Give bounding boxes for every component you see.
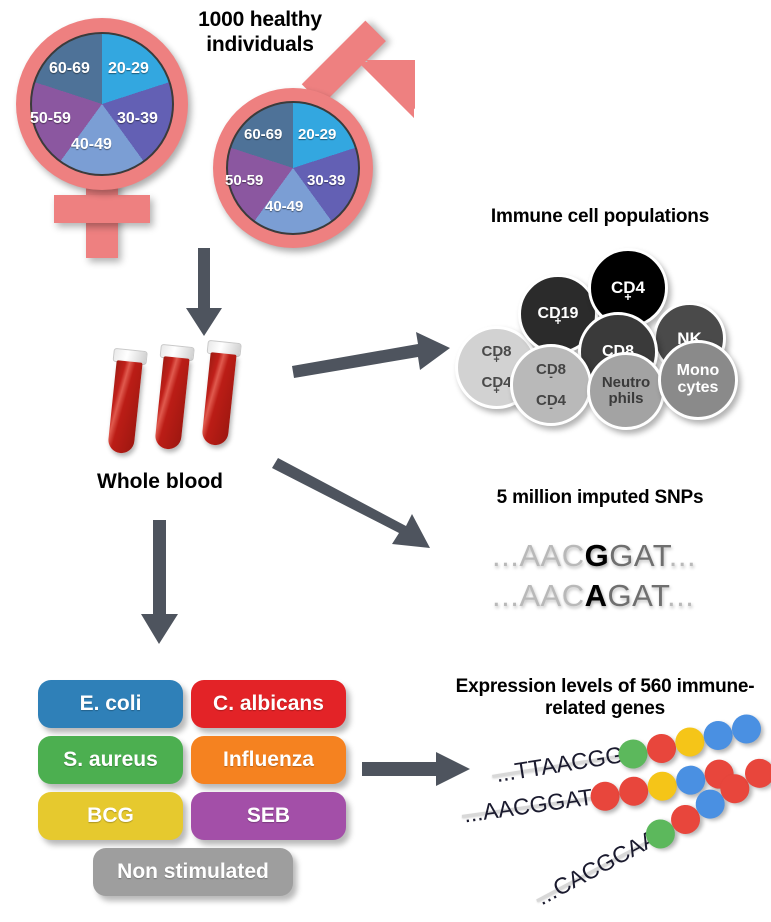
bubble-line-2: phils [602, 391, 650, 407]
strand-sequence: ...CACGCAA [532, 825, 662, 911]
expression-bead [645, 732, 678, 765]
bubble-line-1: Neutro [602, 375, 650, 391]
female-age-label-60-69: 60-69 [49, 60, 90, 78]
male-age-label-40-49: 40-49 [265, 198, 303, 215]
snp-suffix: ... [667, 578, 694, 613]
stimulus-label: E. coli [80, 692, 142, 716]
male-age-label-60-69: 60-69 [244, 126, 282, 143]
tube-body [201, 352, 236, 446]
strand-sequence: ...AACGGAT [462, 784, 594, 829]
female-age-label-50-59: 50-59 [30, 110, 71, 128]
stimulus-label: S. aureus [63, 748, 158, 772]
stimulus-e-coli[interactable]: E. coli [38, 680, 183, 728]
male-arrow-head-2 [355, 60, 415, 120]
arrow-cohort-to-blood [182, 248, 226, 338]
female-symbol: 20-29 30-39 40-49 50-59 60-69 [8, 18, 218, 238]
snp-right-bases: GAT [607, 578, 667, 613]
immune-cell-bubbles: CD8+ CD4+ CD19+ CD4+ NK CD8+ [455, 240, 745, 430]
label-whole-blood: Whole blood [60, 470, 260, 494]
tube-body [107, 360, 142, 454]
stimulus-influenza[interactable]: Influenza [191, 736, 346, 784]
expression-bead [702, 719, 735, 752]
section-title-expression: Expression levels of 560 immune-related … [440, 676, 770, 721]
stimulus-seb[interactable]: SEB [191, 792, 346, 840]
bubble-line-1: Mono [677, 363, 720, 380]
arrow-blood-to-immune [292, 330, 452, 380]
arrow-stimuli-to-expression [362, 752, 472, 788]
snp-left-bases: AAC [519, 578, 584, 613]
stimulus-label: SEB [247, 804, 290, 828]
stimulus-non-stimulated[interactable]: Non stimulated [93, 848, 293, 896]
stimulus-c-albicans[interactable]: C. albicans [191, 680, 346, 728]
expression-bead [617, 775, 650, 808]
stimulus-label: Non stimulated [117, 860, 269, 884]
stimulus-label: BCG [87, 804, 134, 828]
snp-prefix: ... [492, 538, 519, 573]
male-symbol: 20-29 30-39 40-49 50-59 60-69 [205, 60, 425, 250]
female-stem-cross [54, 195, 150, 223]
stimulus-label: Influenza [223, 748, 314, 772]
male-age-label-30-39: 30-39 [307, 172, 345, 189]
stimuli-group: E. coli C. albicans S. aureus Influenza … [38, 680, 348, 895]
snp-variant-base: G [585, 538, 610, 573]
stimulus-bcg[interactable]: BCG [38, 792, 183, 840]
bubble-monocytes: Mono cytes [658, 340, 738, 420]
female-age-label-20-29: 20-29 [108, 60, 149, 78]
expression-bead [646, 770, 679, 803]
bubble-neutrophils: Neutro phils [587, 352, 665, 430]
snp-right-bases: GAT [609, 538, 669, 573]
blood-tubes-group [110, 340, 280, 460]
male-age-label-50-59: 50-59 [225, 172, 263, 189]
female-age-label-40-49: 40-49 [71, 136, 112, 154]
bubble-cd8n-cd4n: CD8- CD4- [510, 344, 592, 426]
female-age-label-30-39: 30-39 [117, 110, 158, 128]
stimulus-s-aureus[interactable]: S. aureus [38, 736, 183, 784]
male-age-label-20-29: 20-29 [298, 126, 336, 143]
tube-body [154, 356, 189, 450]
bubble-line-2: cytes [677, 380, 720, 397]
snp-sequence-row-2: ...AACAGAT... [492, 578, 694, 614]
expression-strands-group: ...TTAACGG ...AACGGAT ...CACGCAA [470, 740, 770, 920]
snp-sequence-row-1: ...AACGGAT... [492, 538, 696, 574]
arrow-blood-to-snps [278, 452, 443, 552]
arrow-blood-to-stimuli [138, 520, 182, 646]
snp-left-bases: AAC [519, 538, 584, 573]
snp-suffix: ... [669, 538, 696, 573]
snp-variant-base: A [585, 578, 608, 613]
snp-prefix: ... [492, 578, 519, 613]
stimulus-label: C. albicans [213, 692, 324, 716]
female-age-pie [30, 32, 174, 176]
diagram-canvas: 1000 healthy individuals 20-29 30-39 40-… [0, 0, 771, 922]
section-title-snps: 5 million imputed SNPs [440, 487, 760, 509]
section-title-immune-cells: Immune cell populations [440, 206, 760, 228]
expression-bead [673, 725, 706, 758]
